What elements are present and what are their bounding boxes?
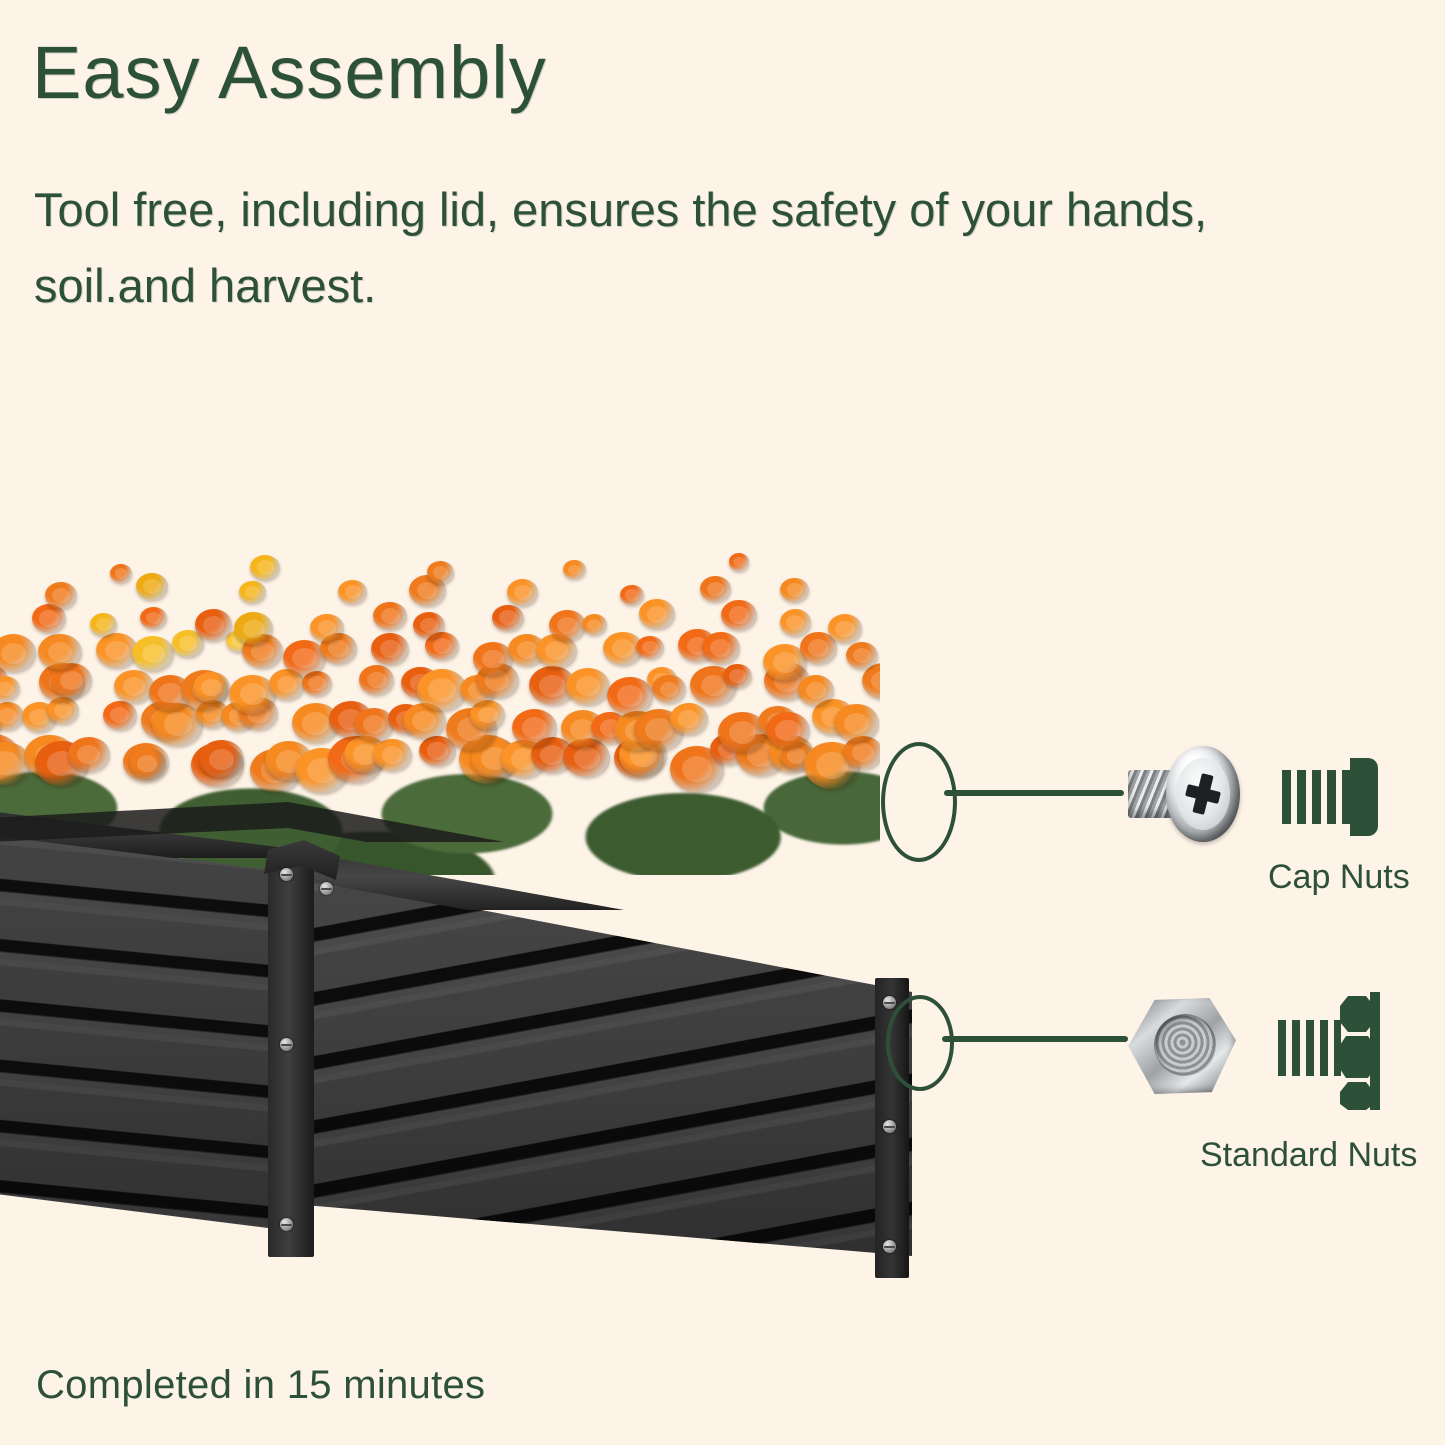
marigold-bloom — [129, 748, 166, 779]
hex-nut-thread-bore — [1154, 1014, 1216, 1076]
marigold-bloom — [132, 636, 174, 671]
callout-highlight-standard-nuts — [886, 995, 954, 1091]
cap-nut-screw-photo — [1128, 744, 1240, 844]
corrugation-ribs-right — [292, 874, 912, 1274]
marigold-bloom — [38, 634, 82, 671]
marigold-bloom — [512, 709, 558, 747]
marigold-bloom — [670, 703, 708, 735]
screw-head — [883, 1120, 896, 1133]
callout-label-standard-nuts: Standard Nuts — [1200, 1136, 1417, 1175]
marigold-bloom — [702, 632, 740, 664]
screw-head-dome — [1166, 746, 1240, 842]
marigold-bloom — [639, 599, 674, 629]
marigold-bloom — [250, 555, 280, 581]
marigold-bloom — [193, 672, 229, 703]
marigold-bloom — [373, 739, 411, 771]
marigold-bloom — [371, 633, 409, 665]
screw-head — [280, 868, 293, 881]
panel-left — [0, 832, 300, 1232]
hex-nut-photo — [1126, 998, 1236, 1094]
panel-right — [292, 874, 912, 1274]
marigold-bloom — [780, 578, 809, 603]
marigold-bloom — [549, 610, 586, 641]
phillips-cross-icon — [1186, 774, 1220, 814]
infographic-canvas: Easy Assembly Tool free, including lid, … — [0, 0, 1445, 1445]
raised-garden-bed-illustration — [0, 545, 940, 1275]
marigold-bloom — [729, 553, 750, 570]
marigold-bloom — [338, 580, 367, 604]
marigold-bloom — [239, 581, 266, 604]
corner-post-front — [268, 862, 314, 1257]
marigold-bloom — [195, 609, 232, 640]
marigold-bloom — [492, 605, 523, 631]
callout-leader-line-cap-nuts — [944, 790, 1124, 796]
marigold-bloom — [310, 614, 343, 642]
page-title: Easy Assembly — [32, 34, 547, 112]
screw-head — [883, 996, 896, 1009]
screw-head — [320, 882, 333, 895]
marigold-bloom — [140, 607, 167, 630]
screw-head — [280, 1038, 293, 1051]
screw-head — [883, 1240, 896, 1253]
callout-label-cap-nuts: Cap Nuts — [1268, 858, 1410, 897]
callout-highlight-cap-nuts — [881, 742, 957, 862]
planter-box — [0, 810, 940, 1280]
marigold-bloom — [199, 740, 244, 778]
marigold-bloom — [354, 708, 394, 742]
marigold-bloom — [110, 564, 132, 582]
marigold-bloom — [834, 704, 879, 742]
marigold-bloom — [45, 582, 77, 609]
marigold-bloom — [507, 579, 538, 605]
marigold-bloom — [652, 675, 685, 703]
marigold-bloom — [780, 609, 812, 635]
marigold-bloom — [90, 613, 117, 636]
marigold-bloom — [700, 576, 731, 602]
page-subtitle: Tool free, including lid, ensures the sa… — [34, 172, 1324, 324]
marigold-bloom — [798, 675, 834, 705]
marigold-bloom — [473, 642, 513, 675]
marigold-bloom — [582, 614, 607, 635]
marigold-bloom — [566, 668, 610, 705]
callout-leader-line-standard-nuts — [942, 1036, 1128, 1042]
marigold-bloom — [136, 573, 169, 600]
marigold-bloom — [620, 585, 644, 605]
marigold-bloom — [723, 664, 752, 688]
cap-nut-schematic-icon — [1282, 752, 1378, 844]
marigold-bloom — [636, 636, 664, 659]
marigold-bloom — [563, 560, 586, 579]
screw-face — [1176, 758, 1230, 830]
completion-time-caption: Completed in 15 minutes — [36, 1363, 485, 1408]
corrugation-ribs-left — [0, 832, 300, 1232]
marigold-bloom — [68, 737, 110, 772]
screw-head — [280, 1218, 293, 1231]
standard-nut-schematic-icon — [1278, 992, 1382, 1110]
marigold-bloom — [103, 701, 137, 729]
marigold-bloom — [427, 561, 454, 584]
